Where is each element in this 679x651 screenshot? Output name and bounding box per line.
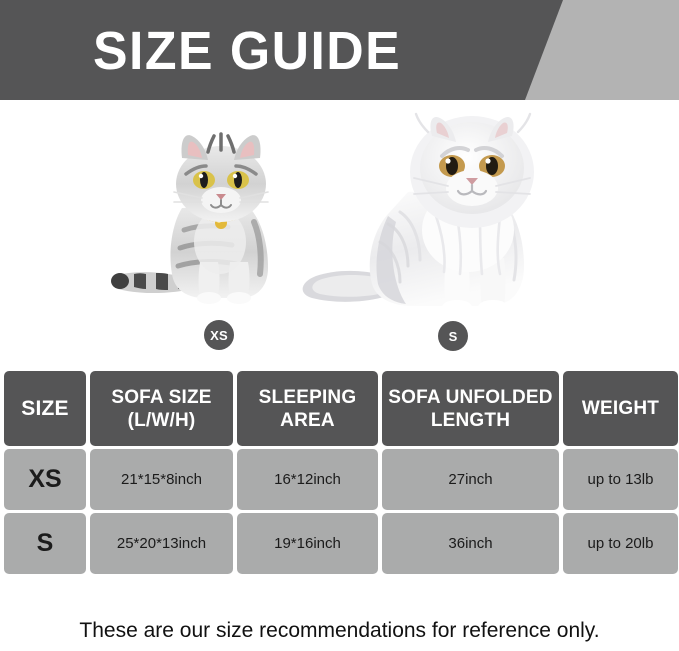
header-cell-unfolded-length: SOFA UNFOLDED LENGTH bbox=[382, 371, 559, 446]
cat-illustration-area: XS S bbox=[0, 100, 679, 360]
footer-caption: These are our size recommendations for r… bbox=[0, 618, 679, 644]
cat-image-xs bbox=[104, 122, 300, 312]
table-header-row: SIZE SOFA SIZE (L/W/H) SLEEPING AREA SOF… bbox=[4, 371, 675, 446]
cell-sofa-size: 21*15*8inch bbox=[90, 449, 233, 510]
cell-weight: up to 13lb bbox=[563, 449, 678, 510]
header-cell-sleeping-area: SLEEPING AREA bbox=[237, 371, 378, 446]
header-unfolded-length-line1: SOFA UNFOLDED bbox=[388, 387, 552, 408]
cell-sleeping-area: 16*12inch bbox=[237, 449, 378, 510]
cell-sofa-size: 25*20*13inch bbox=[90, 513, 233, 574]
header-cell-weight: WEIGHT bbox=[563, 371, 678, 446]
cell-size: S bbox=[4, 513, 86, 574]
header-cell-size: SIZE bbox=[4, 371, 86, 446]
header-banner: SIZE GUIDE bbox=[0, 0, 679, 100]
table-row: XS 21*15*8inch 16*12inch 27inch up to 13… bbox=[4, 449, 675, 510]
cell-size: XS bbox=[4, 449, 86, 510]
banner-diagonal-accent bbox=[519, 0, 679, 100]
size-badge-xs: XS bbox=[204, 320, 234, 350]
size-badge-s: S bbox=[438, 321, 468, 351]
page-title: SIZE GUIDE bbox=[93, 22, 401, 80]
cell-unfolded-length: 27inch bbox=[382, 449, 559, 510]
size-table: SIZE SOFA SIZE (L/W/H) SLEEPING AREA SOF… bbox=[4, 371, 675, 577]
cell-sleeping-area: 19*16inch bbox=[237, 513, 378, 574]
header-unfolded-length-line2: LENGTH bbox=[431, 410, 510, 431]
cell-weight: up to 20lb bbox=[563, 513, 678, 574]
header-sleeping-area-line2: AREA bbox=[280, 410, 335, 431]
cell-unfolded-length: 36inch bbox=[382, 513, 559, 574]
header-sleeping-area-line1: SLEEPING bbox=[259, 387, 357, 408]
cat-image-s bbox=[296, 106, 568, 314]
table-row: S 25*20*13inch 19*16inch 36inch up to 20… bbox=[4, 513, 675, 574]
header-cell-sofa-size: SOFA SIZE (L/W/H) bbox=[90, 371, 233, 446]
header-sofa-size-line1: SOFA SIZE bbox=[111, 387, 211, 408]
header-sofa-size-line2: (L/W/H) bbox=[128, 410, 196, 431]
